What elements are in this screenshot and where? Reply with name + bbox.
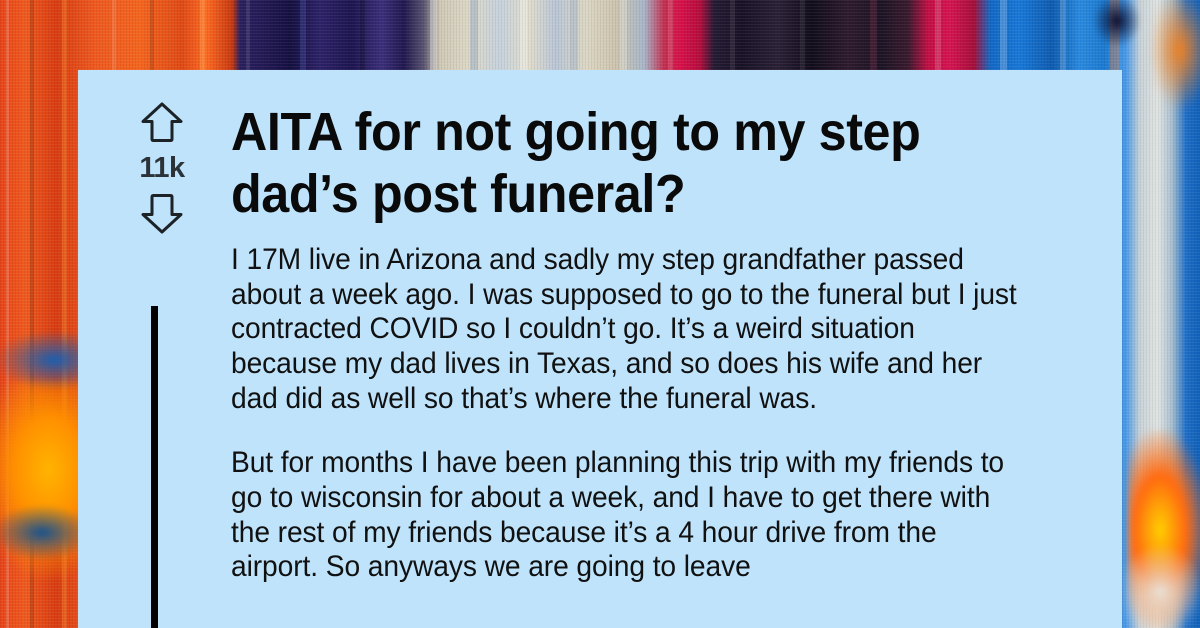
post-body: I 17M live in Arizona and sadly my step … <box>231 243 1017 585</box>
thread-line <box>151 306 158 628</box>
post-card: 11k AITA for not going to my step dad’s … <box>78 70 1122 628</box>
post-paragraph: I 17M live in Arizona and sadly my step … <box>231 243 1017 416</box>
background-orange-flare-top-right <box>1150 0 1200 110</box>
background-cream-streak-right <box>1124 545 1200 628</box>
screenshot-stage: 11k AITA for not going to my step dad’s … <box>0 0 1200 628</box>
down-arrow-icon[interactable] <box>139 191 185 237</box>
post-content: AITA for not going to my step dad’s post… <box>231 102 1017 585</box>
post-paragraph: But for months I have been planning this… <box>231 446 1017 585</box>
up-arrow-icon[interactable] <box>139 99 185 145</box>
post-title: AITA for not going to my step dad’s post… <box>231 102 1017 225</box>
background-dark-blot-top-right <box>1094 0 1140 46</box>
vote-column: 11k <box>122 99 202 237</box>
vote-count: 11k <box>139 154 184 183</box>
